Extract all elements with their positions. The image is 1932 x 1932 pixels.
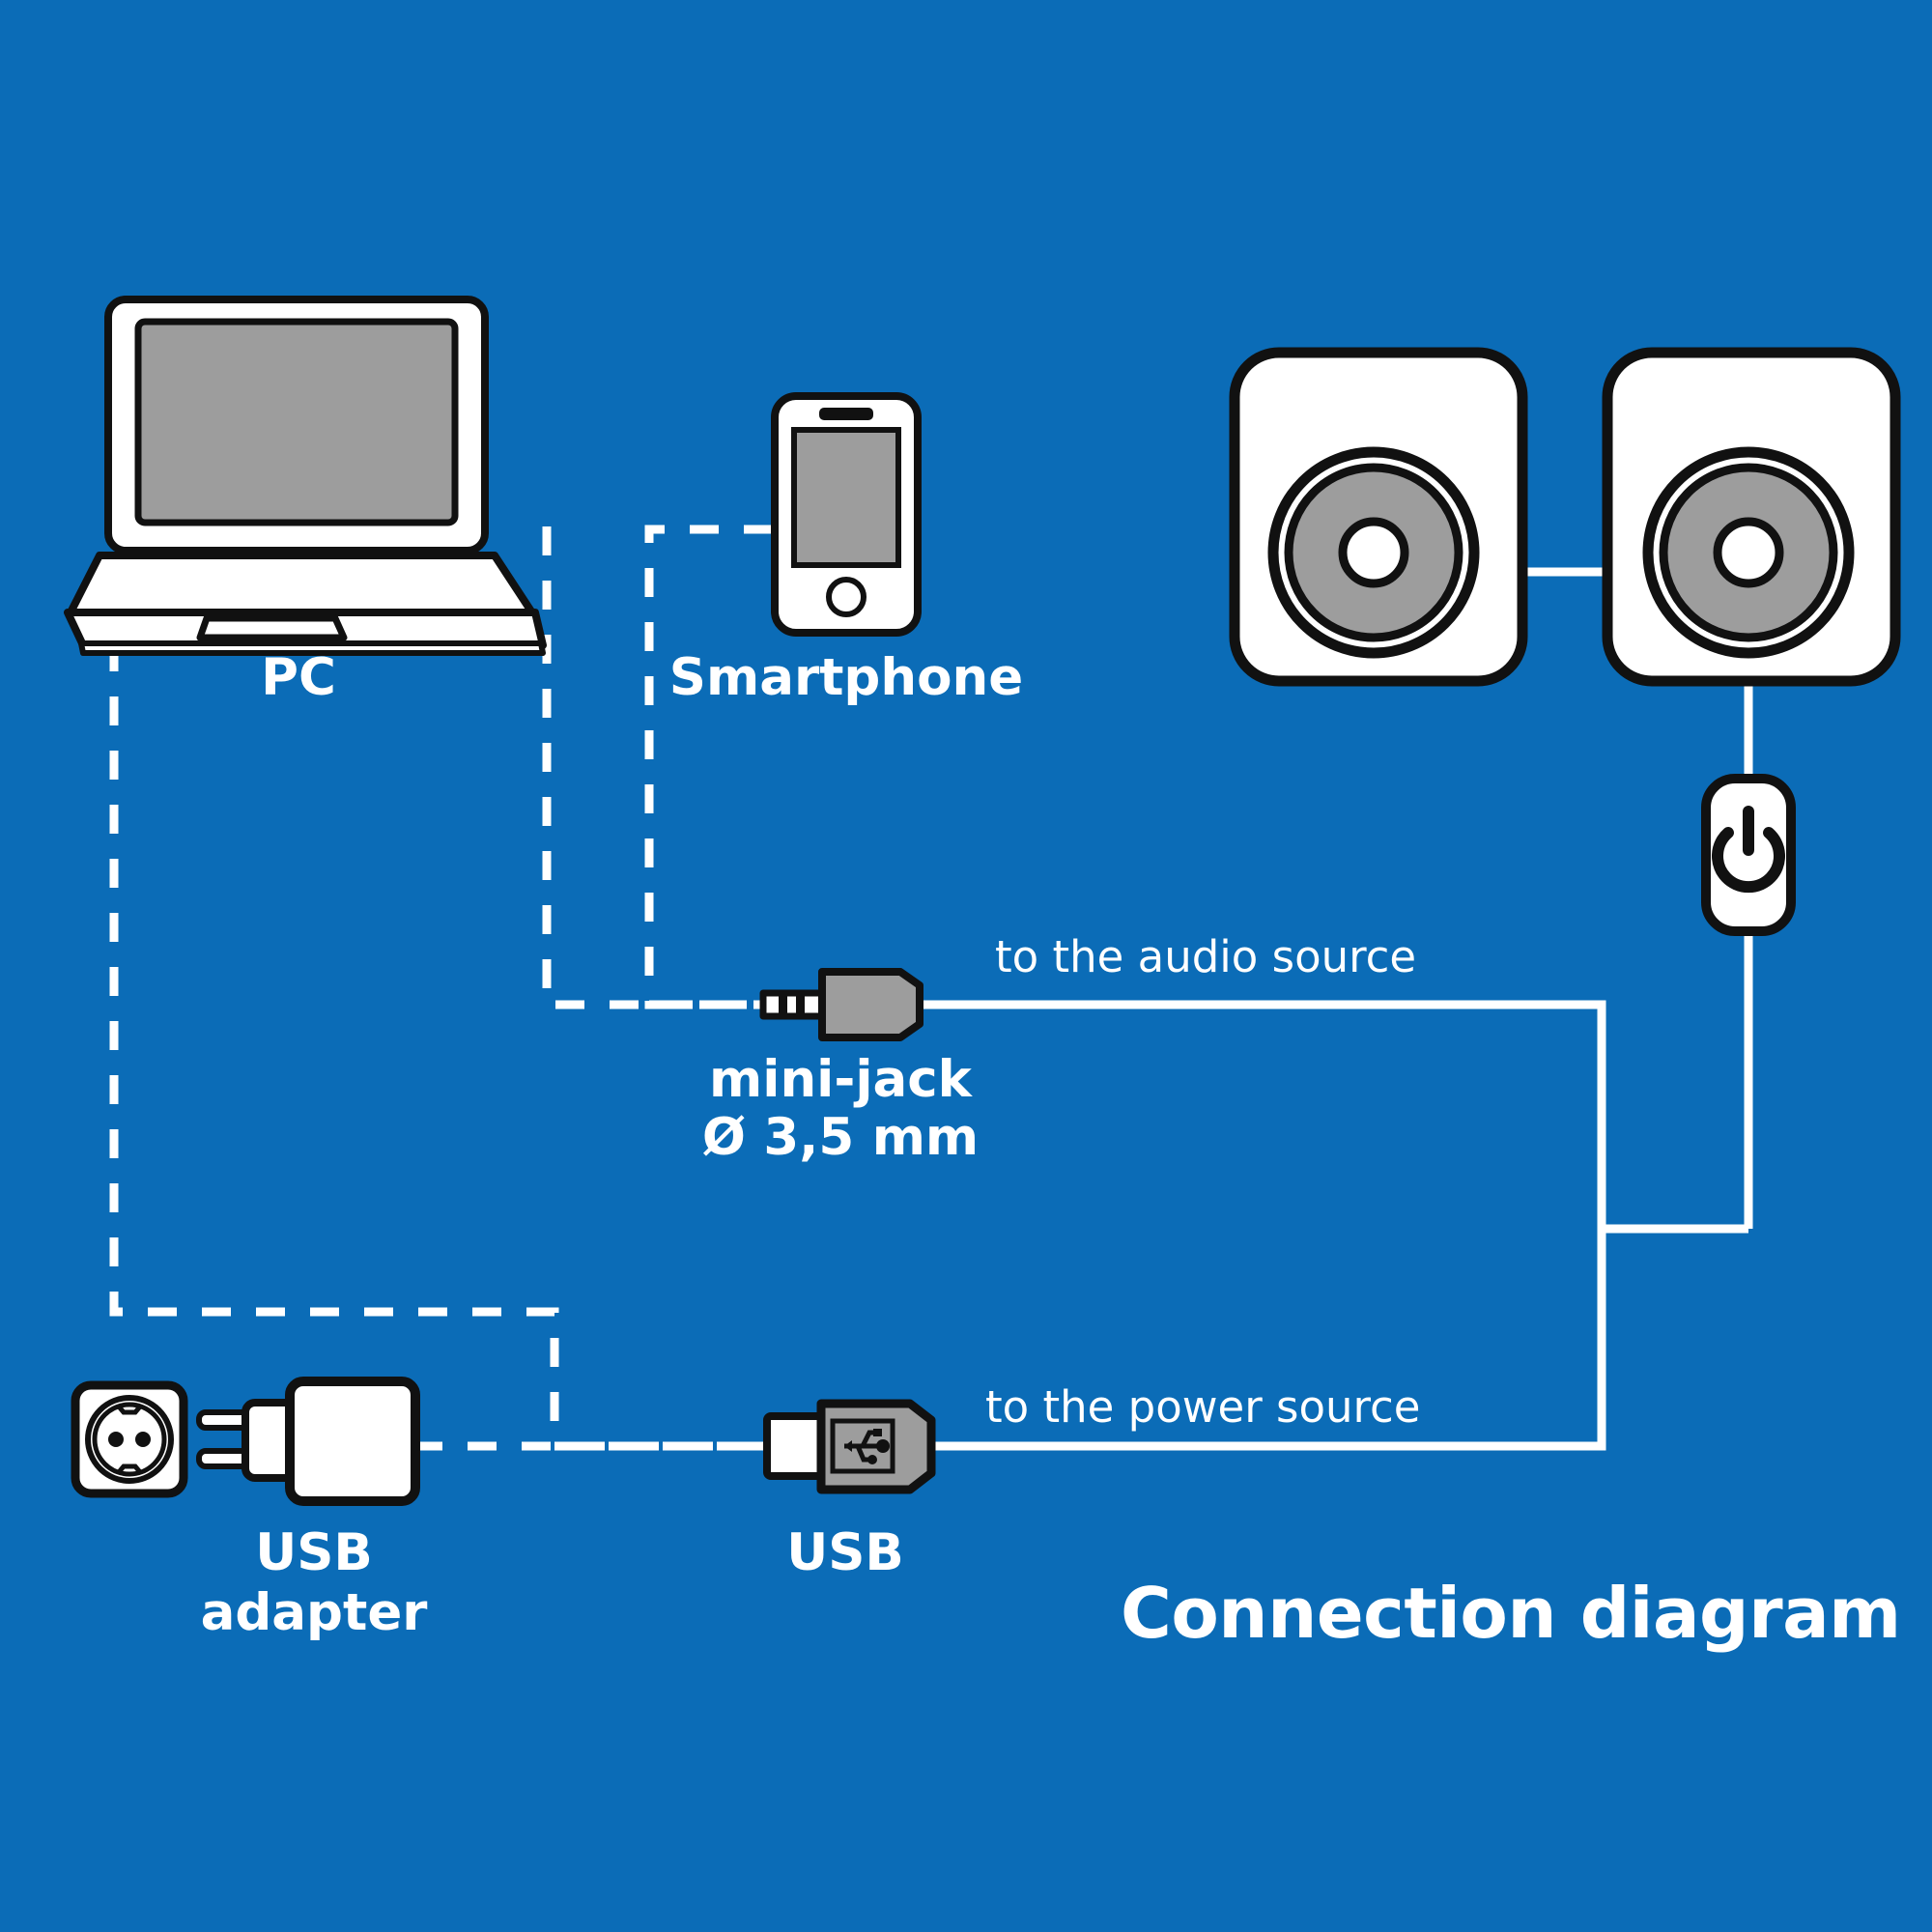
laptop-screen bbox=[138, 322, 455, 523]
minijack-ring-1 bbox=[779, 994, 787, 1015]
cable-pc-to-minijack bbox=[547, 526, 763, 1005]
label-minijack-line1: mini-jack bbox=[676, 1051, 1005, 1108]
cable-smartphone-to-minijack bbox=[649, 529, 773, 1005]
laptop-base-top bbox=[70, 555, 533, 614]
wall-socket[interactable] bbox=[75, 1385, 184, 1493]
power-button[interactable] bbox=[1706, 779, 1791, 931]
label-usb-adapter-line2: adapter bbox=[155, 1584, 473, 1641]
label-pc: PC bbox=[207, 649, 390, 706]
label-minijack-line2: Ø 3,5 mm bbox=[676, 1109, 1005, 1166]
cable-pc-to-usb bbox=[114, 642, 773, 1446]
usb-power-adapter[interactable] bbox=[199, 1381, 415, 1501]
laptop-trackpad bbox=[200, 618, 344, 638]
mini-jack-connector[interactable] bbox=[763, 972, 920, 1037]
phone-home-button bbox=[829, 580, 864, 614]
speaker-left[interactable] bbox=[1235, 353, 1522, 681]
euro-socket-icon bbox=[88, 1398, 171, 1481]
phone-screen bbox=[794, 430, 898, 565]
speaker-right[interactable] bbox=[1607, 353, 1895, 681]
speaker-left-dustcap bbox=[1343, 522, 1405, 583]
minijack-ring-2 bbox=[796, 994, 805, 1015]
usb-connector[interactable] bbox=[767, 1404, 931, 1490]
label-smartphone: Smartphone bbox=[667, 649, 1026, 706]
minijack-body bbox=[822, 972, 920, 1037]
laptop-computer[interactable] bbox=[68, 299, 543, 653]
adapter-body bbox=[290, 1381, 415, 1501]
smartphone[interactable] bbox=[775, 396, 918, 633]
phone-earpiece bbox=[819, 408, 873, 420]
connection-diagram-canvas: PC Smartphone mini-jack Ø 3,5 mm to the … bbox=[0, 0, 1932, 1932]
label-to-power-source: to the power source bbox=[985, 1383, 1420, 1432]
minijack-pin bbox=[763, 993, 827, 1016]
label-usb-adapter-line1: USB bbox=[155, 1524, 473, 1581]
label-to-audio-source: to the audio source bbox=[995, 933, 1416, 981]
label-usb: USB bbox=[744, 1524, 947, 1581]
cable-audio-to-speakers bbox=[918, 1005, 1748, 1229]
speaker-right-dustcap bbox=[1718, 522, 1779, 583]
diagram-title: Connection diagram bbox=[1121, 1575, 1901, 1653]
